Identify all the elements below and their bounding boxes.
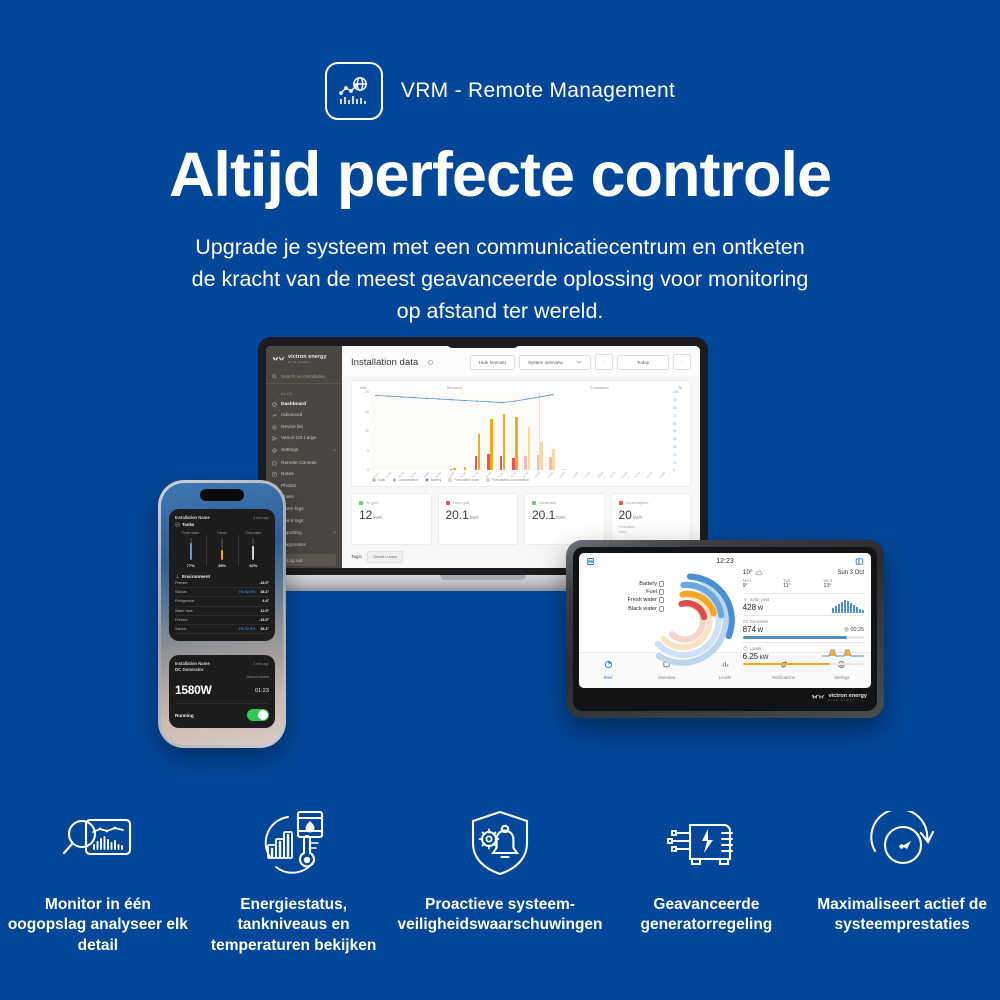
- note-icon: [272, 472, 277, 477]
- generator-toggle[interactable]: [247, 709, 269, 721]
- sidebar-item-venus-os-large[interactable]: Venus OS Large: [266, 433, 342, 445]
- tanks-section-title: Tanks: [175, 522, 269, 527]
- console-icon: [272, 461, 277, 466]
- environment-row: SaloonRh 52.6%38.1°: [175, 625, 269, 634]
- metric-label: Loads: [750, 646, 761, 651]
- chart-bar-group: [459, 392, 471, 470]
- last-updated: 3 min ago: [253, 662, 269, 666]
- dynamic-island: [200, 489, 244, 501]
- gauge-icon: [272, 402, 277, 407]
- environment-row: Freezer-18.0°: [175, 579, 269, 588]
- victron-logo: victron energy blue power: [579, 688, 871, 702]
- display-icon[interactable]: [855, 557, 864, 566]
- forecast-temp: 11°: [783, 583, 823, 589]
- forecast-day: Tue11°: [783, 578, 823, 589]
- chart-bar-group: [509, 392, 521, 470]
- legend-label: Solar: [378, 478, 386, 482]
- victron-logo-sub: blue power: [288, 361, 327, 364]
- chart-plot-area: [370, 392, 672, 470]
- sidebar-item-label: Notes: [281, 472, 294, 477]
- current-temp: 10°: [743, 569, 753, 576]
- legend-item[interactable]: Solar: [372, 478, 386, 482]
- sidebar-item-label: Settings: [281, 448, 298, 453]
- stat-unit: kWh: [373, 515, 382, 520]
- metric-label: Generator: [750, 619, 769, 624]
- arrow-to-grid-icon: [359, 501, 363, 505]
- stat-card[interactable]: Generator20.1kWh: [524, 493, 605, 545]
- victron-mark-icon: [811, 693, 825, 702]
- vrm-app-window: victron energy blue power Search an inst…: [266, 346, 700, 568]
- chart-bar: [490, 419, 493, 470]
- manual-started-label: Manual started: [247, 675, 269, 679]
- y-tick-right: 10: [673, 461, 677, 465]
- tag-chip[interactable]: Smart Lucian: [367, 551, 403, 563]
- legend-label: Consumption: [398, 478, 418, 482]
- chart-bar-group: [546, 392, 558, 470]
- thermometer-icon: [175, 574, 180, 579]
- chart-bar-group: [645, 392, 657, 470]
- loads-waveform: [822, 647, 864, 659]
- metric-loads[interactable]: Loads 6.25 kW: [743, 643, 864, 669]
- weather-date: Sun 3 Oct: [837, 570, 864, 576]
- gx-bezel: 12:23: [573, 547, 877, 711]
- forecast-day: Wed13°: [824, 578, 864, 589]
- vrm-main: Installation data Hide forecast System o…: [342, 346, 700, 568]
- chart-bar-group: [521, 392, 533, 470]
- generator-widget[interactable]: Installation Name 3 min ago DC Generator…: [169, 655, 275, 728]
- sensor-value: 12.0°: [260, 609, 269, 613]
- sidebar-item-label: Device list: [281, 425, 303, 430]
- environment-row: SaloonRh 52.6%38.1°: [175, 588, 269, 597]
- system-overview-select[interactable]: System overview: [519, 355, 591, 370]
- feature-label: Proactieve systeem-veiligheidswaarschuwi…: [392, 895, 609, 936]
- chart-bar-group: [533, 392, 545, 470]
- stat-label: Consumption: [626, 500, 649, 505]
- shield-bell-gear-icon: [465, 807, 535, 879]
- today-button[interactable]: Today: [617, 355, 669, 370]
- spark-bar: [835, 606, 837, 613]
- solar-sparkline: [832, 599, 864, 613]
- gx-nav-label: Overview: [658, 675, 675, 680]
- tank-name: Fresh water: [175, 531, 206, 535]
- expand-icon[interactable]: +: [333, 448, 336, 454]
- tank-bar: [252, 538, 254, 560]
- next-period-button[interactable]: ›: [673, 354, 691, 370]
- device-name: DC Generator: [175, 667, 269, 672]
- ring-labels: BatteryFuelFresh waterBlack water: [588, 580, 664, 613]
- environment-row: Freezer-18.0°: [175, 616, 269, 625]
- sidebar-item-notes[interactable]: Notes: [266, 469, 342, 481]
- feature-monitor: Monitor in één oogopslag analyseer elk d…: [0, 807, 196, 956]
- ring-label: Battery: [588, 580, 664, 588]
- spark-bar: [859, 609, 861, 613]
- gx-nav-label: Brief: [604, 675, 613, 680]
- vrm-toolbar: Installation data Hide forecast System o…: [342, 346, 700, 376]
- chart-bar-group: [409, 392, 421, 470]
- stat-header: Generator: [532, 500, 597, 505]
- installation-name: Installation Name: [175, 661, 210, 666]
- vrm-chart-globe-icon: [325, 62, 383, 120]
- chart-bar-group: [422, 392, 434, 470]
- stat-sub: ForecastedTotal: [619, 525, 684, 535]
- sidebar-item-dashboard[interactable]: Dashboard: [266, 398, 342, 410]
- battery-icon: [659, 581, 664, 587]
- environment-row: Water tank12.0°: [175, 607, 269, 616]
- laptop-notch: [446, 337, 520, 348]
- weather-now: 10° Sun 3 Oct: [743, 566, 864, 576]
- environment-row: Refrigerator4.4°: [175, 597, 269, 606]
- chart-bar-group: [484, 392, 496, 470]
- chart-bar-group: [596, 392, 608, 470]
- chart-bar: [540, 442, 543, 470]
- chart-bar-group: [658, 392, 670, 470]
- legend-label: Forecasted solar: [454, 478, 479, 482]
- y-tick-right: 20: [673, 453, 677, 457]
- metric-value-row: 874 W 00:25: [743, 625, 864, 634]
- arrow-from-grid-icon: [446, 501, 450, 505]
- chart-bar-group: [608, 392, 620, 470]
- generator-state-row: Running: [175, 703, 269, 721]
- tank-levels: Fresh water77%Diesel45%Grey water62%: [175, 531, 269, 568]
- phone-screen: Installation Name 3 min ago Tanks Fresh …: [161, 483, 283, 745]
- magnifier-chart-icon: [60, 807, 136, 879]
- chart-bar: [524, 456, 527, 470]
- node-icon: [272, 436, 277, 441]
- sidebar-item-back[interactable]: ‹ BACK: [266, 388, 342, 398]
- y-tick-right: 0: [673, 468, 675, 472]
- chart-icon: [272, 413, 277, 418]
- tank-percent: 45%: [206, 563, 237, 568]
- chart-y-axis-right: 1009080706050403020100: [672, 392, 684, 470]
- y-tick-right: 60: [673, 422, 677, 426]
- sidebar-item-label: Remote Console: [281, 461, 317, 466]
- y-tick: 10: [365, 429, 369, 433]
- brief-icon: [579, 656, 637, 665]
- sensor-name: Freezer: [175, 618, 259, 622]
- feature-safety-alerts: Proactieve systeem-veiligheidswaarschuwi…: [392, 807, 609, 936]
- chevron-down-icon: [576, 360, 582, 364]
- sensor-value: -18.0°: [259, 618, 269, 622]
- chart-bar: [478, 434, 481, 470]
- generator-state-label: Running: [175, 713, 194, 718]
- logout-label: Log out: [287, 558, 302, 563]
- chart-bar-group: [583, 392, 595, 470]
- sensor-name: Water tank: [175, 609, 260, 613]
- sidebar-item-remote-console[interactable]: Remote Console: [266, 457, 342, 469]
- search-placeholder: Search an installation: [281, 374, 325, 379]
- weather-forecast: Mon9°Tue11°Wed13°: [743, 578, 864, 594]
- page-title: Installation data: [351, 357, 418, 368]
- stat-label: Generator: [539, 500, 557, 505]
- tank-bar: [190, 538, 192, 560]
- sidebar-item-device-list[interactable]: Device list: [266, 421, 342, 433]
- legend-item[interactable]: Forecasted solar: [448, 478, 479, 482]
- stat-card[interactable]: From grid20.1kWh: [438, 493, 519, 545]
- sensor-value: -18.0°: [259, 581, 269, 585]
- tank-gauge: Grey water62%: [238, 531, 269, 568]
- stat-value: 20kWh: [619, 508, 684, 522]
- runtime-value: 01:23: [255, 688, 269, 694]
- feature-label: Energiestatus, tankniveaus en temperatur…: [196, 895, 392, 956]
- sensor-name: Saloon: [175, 590, 239, 594]
- summary-stats: To grid12kWhFrom grid20.1kWhGenerator20.…: [351, 493, 691, 545]
- tank-thermometer-icon: [258, 807, 330, 879]
- energy-chart-card: kWh Recorded Forecasted % 20151050: [351, 380, 691, 487]
- feature-performance: Maximaliseert actief de systeemprestatie…: [804, 807, 1000, 936]
- chart-unit-label: kWh: [360, 386, 382, 390]
- metric-value: 428: [743, 603, 756, 612]
- installation-name: Installation Name: [175, 515, 210, 520]
- y-tick-right: 80: [673, 406, 677, 410]
- spark-bar: [856, 607, 858, 613]
- chart-bar: [515, 417, 518, 470]
- sensor-name: Saloon: [175, 627, 239, 631]
- gx-brief-body: BatteryFuelFresh waterBlack water 10° Su…: [579, 566, 871, 652]
- chart-bar-group: [372, 392, 384, 470]
- sidebar-item-settings[interactable]: Settings +: [266, 445, 342, 458]
- tanks-widget[interactable]: Installation Name 3 min ago Tanks Fresh …: [169, 509, 275, 641]
- chart-canvas: 20151050 1009080706050403020100: [358, 392, 684, 470]
- search-icon: [272, 374, 277, 379]
- chart-bar-group: [434, 392, 446, 470]
- chart-bar-group: [471, 392, 483, 470]
- sensor-humidity: Rh 52.6%: [239, 590, 255, 594]
- sidebar-item-label: Dashboard: [281, 402, 306, 407]
- sensor-humidity: Rh 52.6%: [239, 627, 255, 631]
- spark-bar: [847, 601, 849, 613]
- feature-label: Maximaliseert actief de systeemprestatie…: [804, 895, 1000, 936]
- brand-title: VRM - Remote Management: [401, 79, 675, 103]
- metric-unit: W: [758, 628, 764, 634]
- stat-label: From grid: [453, 500, 470, 505]
- gx-clock: 12:23: [595, 558, 855, 565]
- generator-runtime: 00:25: [844, 627, 865, 633]
- legend-item[interactable]: Battery: [425, 478, 441, 482]
- generator-progress: [743, 636, 864, 639]
- y-tick-right: 40: [673, 437, 677, 441]
- forecast-day: Mon9°: [743, 578, 783, 589]
- toolbar-controls: Hide forecast System overview ‹ Today ›: [470, 354, 691, 370]
- y-tick-right: 100: [673, 390, 678, 394]
- y-tick: 0: [367, 468, 369, 472]
- sensor-name: Freezer: [175, 581, 259, 585]
- gx-touch-device: 12:23: [566, 540, 884, 718]
- metric-header: Generator: [743, 619, 864, 624]
- metric-unit: kW: [760, 655, 769, 661]
- chevron-left-icon: ‹: [272, 391, 277, 396]
- forecast-temp: 13°: [824, 583, 864, 589]
- ring-label: Fresh water: [588, 596, 664, 604]
- select-value: System overview: [528, 360, 563, 365]
- chart-bar-group: [447, 392, 459, 470]
- metric-value: 6.25: [743, 652, 759, 661]
- generator-icon: [532, 501, 536, 505]
- chart-bars: [370, 392, 672, 470]
- gx-nav-brief[interactable]: Brief: [579, 656, 637, 684]
- chart-bar-group: [397, 392, 409, 470]
- spark-bar: [841, 602, 843, 613]
- stat-value: 20.1kWh: [532, 508, 597, 522]
- gauge-arrow-icon: [865, 807, 939, 879]
- chart-bar-group: [571, 392, 583, 470]
- spark-bar: [838, 604, 840, 613]
- feature-label: Geavanceerde generatorregeling: [609, 895, 805, 936]
- loads-progress: [743, 663, 864, 666]
- ring-label: Fuel: [588, 588, 664, 596]
- chart-bar-group: [496, 392, 508, 470]
- chart-bar-group: [620, 392, 632, 470]
- tags-label: Tags:: [351, 554, 362, 559]
- tank-name: Grey water: [238, 531, 269, 535]
- sensor-value: 38.1°: [260, 627, 269, 631]
- spark-bar: [850, 603, 852, 613]
- chart-bar-group: [558, 392, 570, 470]
- stat-header: To grid: [359, 500, 424, 505]
- y-tick-right: 50: [673, 429, 677, 433]
- tank-gauge: Fresh water77%: [175, 531, 206, 568]
- sidebar-item-label: Photos: [281, 484, 296, 489]
- features-row: Monitor in één oogopslag analyseer elk d…: [0, 807, 1000, 956]
- chart-bar: [500, 456, 503, 470]
- tank-name: Diesel: [206, 531, 237, 535]
- spark-bar: [832, 608, 834, 613]
- stat-header: From grid: [446, 500, 511, 505]
- stat-label: To grid: [366, 500, 378, 505]
- y-tick-right: 70: [673, 414, 677, 418]
- prev-period-button[interactable]: ‹: [595, 354, 613, 370]
- cloud-icon: [755, 570, 763, 576]
- water-drop-icon: [659, 597, 664, 603]
- tank-gauge: Diesel45%: [206, 531, 237, 568]
- sun-icon: [743, 597, 748, 602]
- tank-icon: [175, 522, 180, 527]
- widget-header: Installation Name 3 min ago: [175, 515, 269, 520]
- tank-percent: 77%: [175, 563, 206, 568]
- metric-label: Solar yield: [750, 597, 770, 602]
- stat-unit: kWh: [633, 515, 642, 520]
- gx-nav-label: Notifications: [772, 675, 795, 680]
- brand-sub: blue power: [828, 699, 867, 702]
- search-input[interactable]: Search an installation: [266, 370, 342, 384]
- chart-bar: [475, 456, 478, 470]
- stat-unit: kWh: [556, 515, 565, 520]
- generator-bolt-icon: [666, 807, 746, 879]
- environment-rows: Freezer-18.0°SaloonRh 52.6%38.1°Refriger…: [175, 579, 269, 634]
- gx-metrics-panel: 10° Sun 3 Oct Mon9°Tue11°Wed13° Solar yi…: [738, 566, 864, 652]
- gx-rings-panel: BatteryFuelFresh waterBlack water: [586, 566, 738, 652]
- metric-solar-yield[interactable]: Solar yield 428 W: [743, 594, 864, 616]
- legend-item[interactable]: Forecasted consumption: [486, 478, 529, 482]
- battery-stack-icon[interactable]: [586, 557, 595, 566]
- loads-icon: [743, 646, 748, 651]
- tank-percent: 62%: [238, 563, 269, 568]
- sensor-value: 4.4°: [262, 599, 269, 603]
- sidebar-item-label: Advanced: [281, 413, 302, 418]
- chart-bar-group: [384, 392, 396, 470]
- metric-unit: W: [758, 606, 764, 612]
- sidebar-item-label: BACK: [281, 392, 293, 396]
- chart-section-forecasted: Forecasted: [527, 386, 672, 390]
- gear-icon: [272, 448, 277, 453]
- stat-card[interactable]: Consumption20kWhForecastedTotal: [611, 493, 692, 545]
- spark-bar: [862, 610, 864, 613]
- metric-value: 874: [743, 625, 756, 634]
- chart-bar-group: [633, 392, 645, 470]
- gx-nav-label: Settings: [834, 675, 849, 680]
- fuel-icon: [659, 589, 664, 595]
- forecast-temp: 9°: [743, 583, 783, 589]
- gx-nav-label: Levels: [719, 675, 731, 680]
- generator-icon: [743, 619, 748, 624]
- ring-label: Black water: [588, 605, 664, 613]
- widget-header: Installation Name 3 min ago: [175, 661, 269, 666]
- hide-forecast-button[interactable]: Hide forecast: [470, 355, 515, 370]
- expand-icon[interactable]: +: [333, 530, 336, 536]
- device-icon: [272, 425, 277, 430]
- legend-item[interactable]: Consumption: [393, 478, 419, 482]
- sidebar-item-advanced[interactable]: Advanced: [266, 410, 342, 422]
- metric-generator[interactable]: Generator 874 W 00:25: [743, 616, 864, 643]
- y-tick-right: 30: [673, 445, 677, 449]
- generator-power: 1580W: [175, 683, 212, 697]
- stat-card[interactable]: To grid12kWh: [351, 493, 432, 545]
- stat-value: 20.1kWh: [446, 508, 511, 522]
- chart-bar: [503, 414, 506, 470]
- sidebar-item-label: Venus OS Large: [281, 436, 316, 441]
- chart-section-recorded: Recorded: [382, 386, 527, 390]
- gx-screen: 12:23: [579, 553, 871, 688]
- gx-status-bar: 12:23: [579, 553, 871, 566]
- sensor-value: 38.1°: [260, 590, 269, 594]
- y-tick-right: 90: [673, 398, 677, 402]
- y-tick: 20: [365, 390, 369, 394]
- chart-bar: [528, 427, 531, 470]
- consumption-icon: [619, 501, 623, 505]
- generator-runtime-block: Manual started 01:23: [247, 675, 269, 697]
- last-updated: 3 min ago: [253, 516, 269, 520]
- chart-y-axis-left: 20151050: [358, 392, 370, 470]
- spark-bar: [844, 600, 846, 613]
- stat-unit: kWh: [470, 515, 479, 520]
- feature-generator-control: Geavanceerde generatorregeling: [609, 807, 805, 936]
- feature-energy-status: Energiestatus, tankniveaus en temperatur…: [196, 807, 392, 956]
- spark-bar: [853, 605, 855, 613]
- phone-device: Installation Name 3 min ago Tanks Fresh …: [158, 480, 286, 748]
- brand-header: VRM - Remote Management: [0, 0, 1000, 120]
- victron-logo: victron energy blue power: [266, 350, 342, 370]
- y-tick: 15: [365, 410, 369, 414]
- clock-icon: [844, 627, 849, 632]
- y-tick: 5: [367, 449, 369, 453]
- sensor-name: Refrigerator: [175, 599, 262, 603]
- feature-label: Monitor in één oogopslag analyseer elk d…: [0, 895, 196, 956]
- stat-header: Consumption: [619, 500, 684, 505]
- info-icon[interactable]: [428, 360, 433, 365]
- chart-right-axis-label: %: [672, 386, 682, 390]
- stat-value: 12kWh: [359, 508, 424, 522]
- page-subtitle: Upgrade je systeem met een communicatiec…: [0, 232, 1000, 327]
- page-title: Altijd perfecte controle: [0, 142, 1000, 208]
- device-stage: victron energy blue power Search an inst…: [0, 322, 1000, 762]
- water-drop-icon: [659, 606, 664, 612]
- tank-bar: [221, 538, 223, 560]
